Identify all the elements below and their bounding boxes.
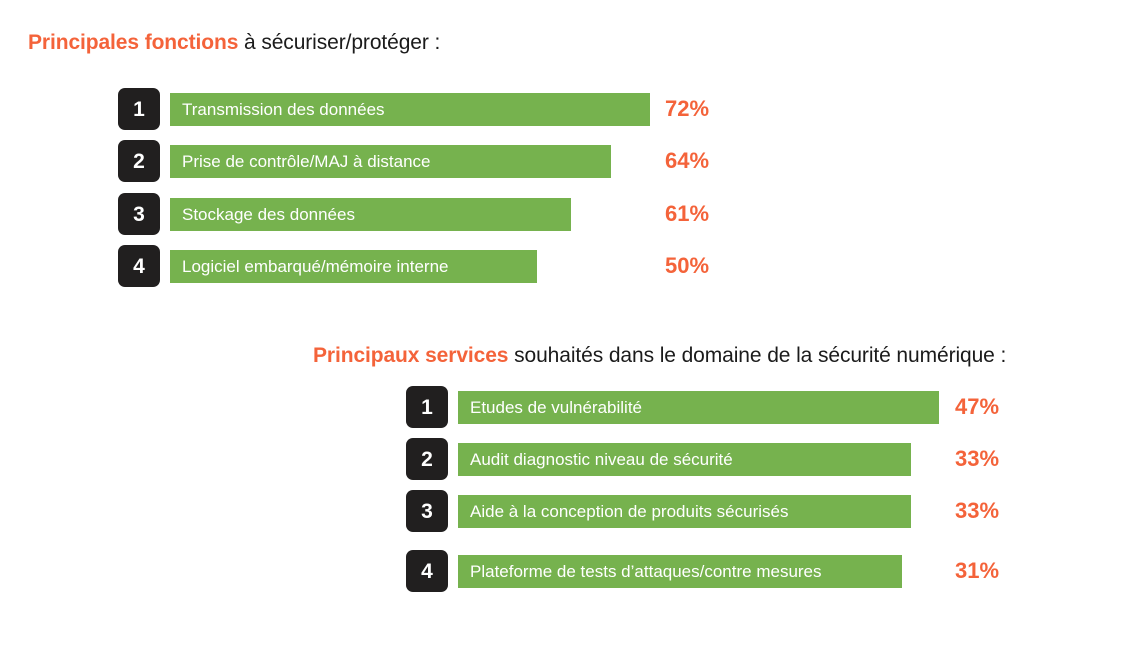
bar-label: Transmission des données [170,93,650,126]
rank-badge-label: 3 [421,501,433,522]
bar-label: Prise de contrôle/MAJ à distance [170,145,611,178]
rank-badge: 3 [118,193,160,235]
section-title-services-rest: souhaités dans le domaine de la sécurité… [508,344,1006,367]
bar-track: Transmission des données [170,93,650,126]
bar-track: Aide à la conception de produits sécuris… [458,495,911,528]
bar-value: 31% [955,554,999,587]
bar-row: 4 Plateforme de tests d’attaques/contre … [406,550,1046,594]
rank-badge: 4 [406,550,448,592]
bar-label: Etudes de vulnérabilité [458,391,939,424]
bar-track: Audit diagnostic niveau de sécurité [458,443,911,476]
rank-badge: 1 [118,88,160,130]
infographic-page: Principales fonctions à sécuriser/protég… [0,0,1148,666]
bar-row: 1 Etudes de vulnérabilité 47% [406,386,1046,430]
section-title-services: Principaux services souhaités dans le do… [313,344,1006,368]
rank-badge-label: 1 [421,397,433,418]
bar-label: Aide à la conception de produits sécuris… [458,495,911,528]
section-title-fonctions-highlight: Principales fonctions [28,31,238,54]
bar-track: Logiciel embarqué/mémoire interne [170,250,537,283]
rank-badge: 2 [118,140,160,182]
bar-value: 72% [665,92,709,125]
rank-badge-label: 2 [133,151,145,172]
bar-row: 4 Logiciel embarqué/mémoire interne 50% [118,245,738,289]
bar-row: 3 Aide à la conception de produits sécur… [406,490,1046,534]
rank-badge: 2 [406,438,448,480]
bar-label: Plateforme de tests d’attaques/contre me… [458,555,902,588]
rank-badge-label: 2 [421,449,433,470]
bar-track: Plateforme de tests d’attaques/contre me… [458,555,902,588]
rank-badge-label: 4 [133,256,145,277]
section-title-fonctions-rest: à sécuriser/protéger : [238,31,440,54]
bar-value: 33% [955,442,999,475]
bar-row: 2 Prise de contrôle/MAJ à distance 64% [118,140,738,184]
rank-badge-label: 1 [133,99,145,120]
bar-track: Etudes de vulnérabilité [458,391,939,424]
bar-value: 33% [955,494,999,527]
bar-row: 2 Audit diagnostic niveau de sécurité 33… [406,438,1046,482]
bar-track: Stockage des données [170,198,571,231]
rank-badge: 3 [406,490,448,532]
section-title-services-highlight: Principaux services [313,344,508,367]
rank-badge-label: 3 [133,204,145,225]
section-title-fonctions: Principales fonctions à sécuriser/protég… [28,31,440,55]
bar-label: Audit diagnostic niveau de sécurité [458,443,911,476]
bar-row: 1 Transmission des données 72% [118,88,738,132]
bar-value: 50% [665,249,709,282]
rank-badge: 4 [118,245,160,287]
bar-track: Prise de contrôle/MAJ à distance [170,145,611,178]
bar-value: 47% [955,390,999,423]
bar-label: Logiciel embarqué/mémoire interne [170,250,537,283]
rank-badge: 1 [406,386,448,428]
bar-value: 64% [665,144,709,177]
bar-row: 3 Stockage des données 61% [118,193,738,237]
bar-value: 61% [665,197,709,230]
rank-badge-label: 4 [421,561,433,582]
bar-label: Stockage des données [170,198,571,231]
